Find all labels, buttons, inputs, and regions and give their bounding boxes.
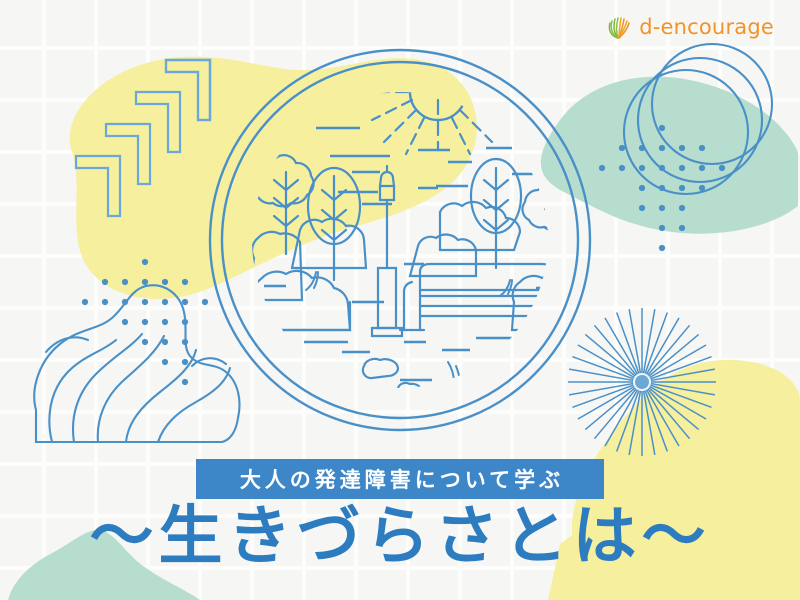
fan-shell-icon (606, 14, 632, 40)
page-title: 〜生きづらさとは〜 (0, 505, 800, 569)
outer-circle (210, 50, 590, 430)
subtitle-band: 大人の発達障害について学ぶ (196, 459, 604, 499)
poster-canvas: d-encourage 大人の発達障害について学ぶ 〜生きづらさとは〜 (0, 0, 800, 600)
brand-logo[interactable]: d-encourage (606, 14, 774, 40)
subtitle-text: 大人の発達障害について学ぶ (236, 464, 564, 494)
tree-left-round (250, 155, 313, 254)
park-bench (400, 264, 572, 330)
logo-text: d-encourage (639, 15, 774, 39)
inner-circle (222, 62, 578, 418)
ground-stones (272, 347, 534, 396)
tree-right-oval (471, 159, 521, 268)
bush-right-foreground (512, 276, 578, 330)
tree-left-oval (308, 168, 360, 280)
sun-with-rays (362, 92, 514, 154)
